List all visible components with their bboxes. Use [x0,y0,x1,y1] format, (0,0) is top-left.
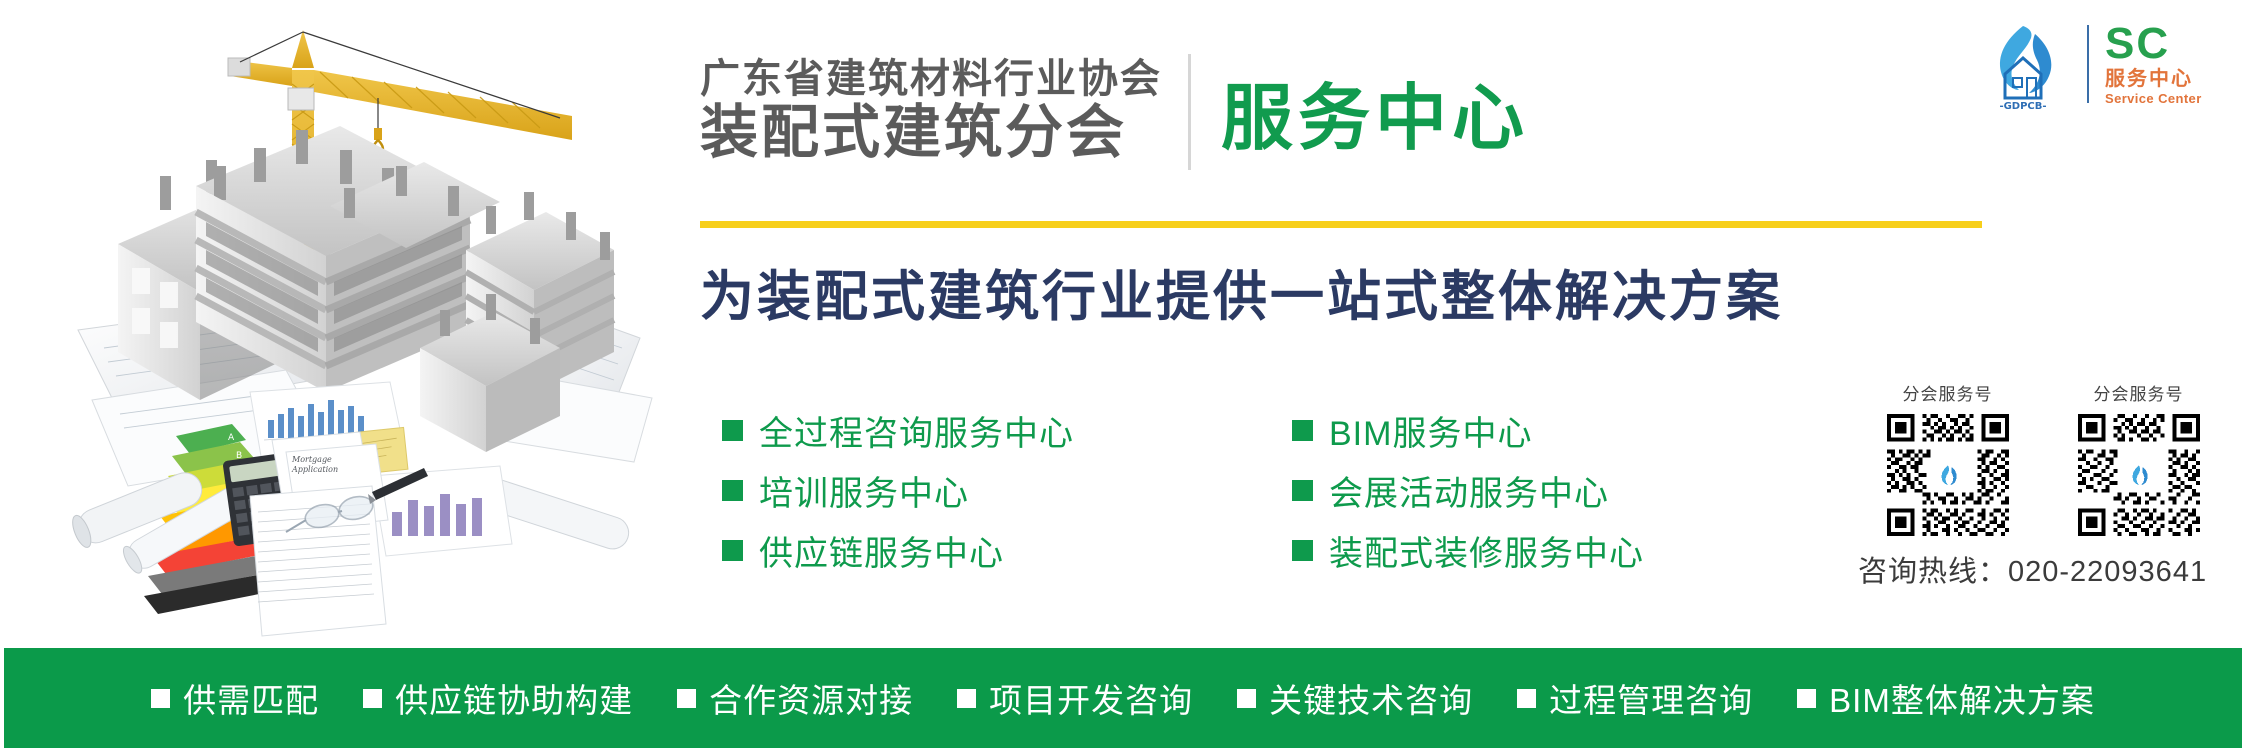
square-bullet-icon [1292,480,1313,501]
bottom-services-bar: 供需匹配 供应链协助构建 合作资源对接 项目开发咨询 关键技术咨询 过程管理咨询… [4,648,2242,748]
service-item[interactable]: 会展活动服务中心 [1292,460,1644,520]
service-label: 会展活动服务中心 [1329,466,1609,515]
square-bullet-icon [957,689,976,708]
bottom-bar-item[interactable]: 过程管理咨询 [1495,674,1775,722]
bottom-bar-label: BIM整体解决方案 [1829,674,2095,722]
association-name: 广东省建筑材料行业协会 装配式建筑分会 [700,46,1188,176]
service-item[interactable]: BIM服务中心 [1292,400,1644,460]
square-bullet-icon [677,689,696,708]
svg-text:Mortgage: Mortgage [291,455,332,464]
square-bullet-icon [1292,420,1313,441]
logo-divider [2087,25,2089,103]
square-bullet-icon [1292,540,1313,561]
svg-text:A: A [228,433,235,443]
bottom-bar-item[interactable]: 合作资源对接 [655,674,935,722]
logo-sc-text: SC [2105,22,2202,65]
hotline-text: 咨询热线：020-22093641 [1858,548,2207,590]
qr-code-image-1[interactable] [1883,410,2013,540]
qr-code-block: 分会服务号 [1840,380,2240,580]
bottom-bar-label: 合作资源对接 [709,674,913,722]
service-label: BIM服务中心 [1329,406,1532,455]
qr-entry: 分会服务号 [1870,380,2025,540]
service-label: 供应链服务中心 [759,526,1004,575]
banner-subtitle: 为装配式建筑行业提供一站式整体解决方案 [700,252,2020,331]
qr-caption: 分会服务号 [1870,380,2025,405]
service-label: 全过程咨询服务中心 [759,406,1074,455]
square-bullet-icon [1517,689,1536,708]
yellow-divider-rule [700,221,1982,228]
service-label: 装配式装修服务中心 [1329,526,1644,575]
association-line1: 广东省建筑材料行业协会 [700,58,1162,100]
logo-en-text: Service Center [2105,91,2202,107]
gdpcb-house-flame-icon: -GDPCB- [1975,16,2071,112]
service-item[interactable]: 供应链服务中心 [722,520,1074,580]
gdpcb-wordmark: -GDPCB- [1999,101,2046,112]
bottom-bar-label: 关键技术咨询 [1269,674,1473,722]
bottom-bar-label: 供应链协助构建 [395,674,633,722]
square-bullet-icon [722,540,743,561]
logo-cn-text: 服务中心 [2105,67,2202,91]
qr-code-image-2[interactable] [2074,410,2204,540]
square-bullet-icon [722,480,743,501]
association-line2: 装配式建筑分会 [700,103,1162,164]
service-list-right: BIM服务中心 会展活动服务中心 装配式装修服务中心 [1292,400,1644,580]
square-bullet-icon [363,689,382,708]
service-item[interactable]: 全过程咨询服务中心 [722,400,1074,460]
bottom-bar-label: 供需匹配 [183,674,319,722]
promotional-banner: ABC DEF GHI [0,0,2246,752]
service-label: 培训服务中心 [759,466,969,515]
purple-chart-document [372,466,512,556]
service-item[interactable]: 培训服务中心 [722,460,1074,520]
bottom-bar-label: 项目开发咨询 [989,674,1193,722]
service-list-left: 全过程咨询服务中心 培训服务中心 供应链服务中心 [722,400,1074,580]
hero-illustration: ABC DEF GHI [0,0,660,648]
service-item[interactable]: 装配式装修服务中心 [1292,520,1644,580]
bottom-bar-item[interactable]: 供应链协助构建 [341,674,655,722]
service-center-title: 服务中心 [1191,46,1529,176]
bottom-bar-item[interactable]: 供需匹配 [129,674,341,722]
square-bullet-icon [151,689,170,708]
logo-text-block: SC 服务中心 Service Center [2105,22,2202,107]
bottom-bar-item[interactable]: 项目开发咨询 [935,674,1215,722]
square-bullet-icon [722,420,743,441]
bottom-bar-item[interactable]: BIM整体解决方案 [1775,674,2117,722]
square-bullet-icon [1237,689,1256,708]
brand-logo: -GDPCB- SC 服务中心 Service Center [1975,14,2230,114]
qr-caption: 分会服务号 [2061,380,2216,405]
square-bullet-icon [1797,689,1816,708]
bottom-bar-item[interactable]: 关键技术咨询 [1215,674,1495,722]
qr-entry: 分会服务号 [2061,380,2216,540]
bottom-bar-label: 过程管理咨询 [1549,674,1753,722]
header-title-row: 广东省建筑材料行业协会 装配式建筑分会 服务中心 [700,46,2000,176]
svg-text:Application: Application [291,465,338,474]
